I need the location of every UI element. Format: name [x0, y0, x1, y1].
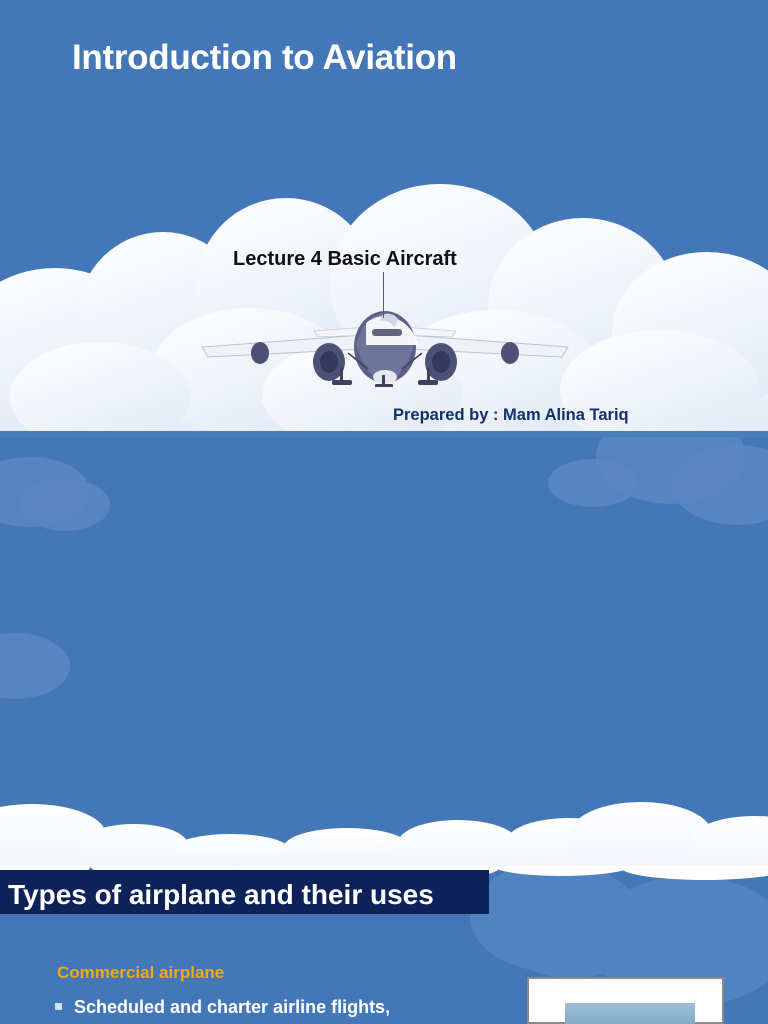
leader-line [383, 272, 384, 318]
bullet-text: Scheduled and charter airline flights, [74, 997, 390, 1017]
lecture-label: Lecture 4 Basic Aircraft [233, 248, 457, 271]
bottom-cloud-row [0, 796, 768, 866]
background-cloud [548, 459, 638, 507]
background-cloud [0, 633, 70, 699]
slide-deck: Introduction to Aviation Lecture 4 Basic… [0, 0, 768, 1024]
airplane-illustration [196, 305, 574, 387]
slide-3-bullet-item: Scheduled and charter airline flights, [55, 997, 555, 1018]
prepared-by-label: Prepared by : Mam Alina Tariq [393, 406, 629, 425]
slide-2-types-diagram[interactable]: Types of Airplane Commercial General/ Pr… [0, 437, 768, 866]
slide-3-title: Types of airplane and their uses [8, 874, 478, 916]
bullet-square-icon [55, 1003, 62, 1010]
background-cloud [20, 479, 110, 531]
photo-inner-band [565, 1003, 695, 1024]
slide-1-title-slide[interactable]: Introduction to Aviation Lecture 4 Basic… [0, 0, 768, 431]
photo-placeholder [527, 977, 724, 1024]
background-cloud [512, 918, 632, 978]
slide-3-subheading: Commercial airplane [57, 963, 224, 983]
page-title: Introduction to Aviation [72, 38, 457, 78]
